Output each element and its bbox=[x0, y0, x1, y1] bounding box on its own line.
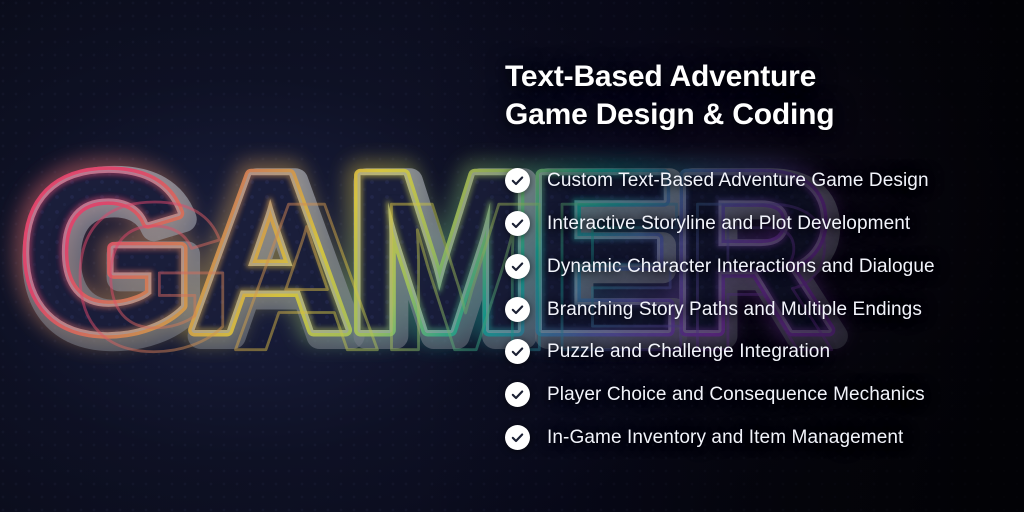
check-icon bbox=[505, 168, 530, 193]
check-icon bbox=[505, 339, 530, 364]
list-item: Dynamic Character Interactions and Dialo… bbox=[505, 245, 1015, 288]
content-column: Text-Based Adventure Game Design & Codin… bbox=[505, 58, 1015, 458]
list-item-label: Branching Story Paths and Multiple Endin… bbox=[547, 300, 922, 319]
feature-list: Custom Text-Based Adventure Game Design … bbox=[505, 160, 1015, 459]
list-item: Branching Story Paths and Multiple Endin… bbox=[505, 288, 1015, 331]
check-icon bbox=[505, 211, 530, 236]
promo-banner: GAMER GAMER GAMER GAMER GAMER GAMER GAME… bbox=[0, 0, 1024, 512]
list-item: In-Game Inventory and Item Management bbox=[505, 416, 1015, 459]
check-icon bbox=[505, 297, 530, 322]
check-icon bbox=[505, 382, 530, 407]
list-item-label: Puzzle and Challenge Integration bbox=[547, 342, 830, 361]
list-item-label: Custom Text-Based Adventure Game Design bbox=[547, 171, 929, 190]
page-title: Text-Based Adventure Game Design & Codin… bbox=[505, 58, 1015, 134]
list-item-label: Player Choice and Consequence Mechanics bbox=[547, 385, 925, 404]
list-item: Interactive Storyline and Plot Developme… bbox=[505, 202, 1015, 245]
check-icon bbox=[505, 254, 530, 279]
list-item-label: Interactive Storyline and Plot Developme… bbox=[547, 214, 910, 233]
check-icon bbox=[505, 425, 530, 450]
list-item-label: Dynamic Character Interactions and Dialo… bbox=[547, 257, 935, 276]
list-item: Puzzle and Challenge Integration bbox=[505, 330, 1015, 373]
list-item: Player Choice and Consequence Mechanics bbox=[505, 373, 1015, 416]
list-item: Custom Text-Based Adventure Game Design bbox=[505, 160, 1015, 203]
list-item-label: In-Game Inventory and Item Management bbox=[547, 428, 903, 447]
